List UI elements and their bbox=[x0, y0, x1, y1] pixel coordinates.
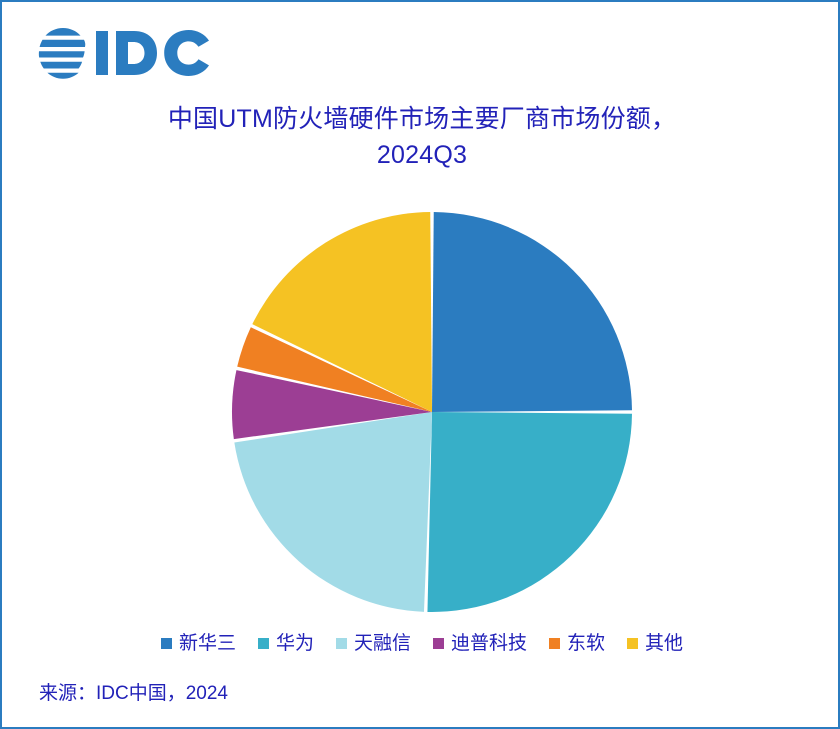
title-line-1: 中国UTM防火墙硬件市场主要厂商市场份额， bbox=[168, 105, 676, 133]
legend-label: 其他 bbox=[645, 634, 683, 653]
legend-label: 东软 bbox=[567, 634, 605, 653]
legend-swatch-icon bbox=[433, 638, 444, 649]
pie-chart-svg bbox=[230, 210, 634, 614]
legend-label: 天融信 bbox=[354, 634, 411, 653]
title-line-2: 2024Q3 bbox=[92, 138, 752, 174]
legend-label: 新华三 bbox=[179, 634, 236, 653]
legend-item[interactable]: 迪普科技 bbox=[433, 634, 527, 653]
legend-item[interactable]: 其他 bbox=[627, 634, 683, 653]
pie-slice-group bbox=[232, 212, 632, 612]
pie-slice[interactable] bbox=[427, 412, 632, 612]
legend-item[interactable]: 天融信 bbox=[336, 634, 411, 653]
pie-chart bbox=[230, 210, 634, 614]
idc-logo bbox=[36, 26, 216, 80]
chart-canvas: 中国UTM防火墙硬件市场主要厂商市场份额， 2024Q3 新华三华为天融信迪普科… bbox=[0, 0, 840, 729]
legend-label: 华为 bbox=[276, 634, 314, 653]
legend-swatch-icon bbox=[627, 638, 638, 649]
legend-swatch-icon bbox=[549, 638, 560, 649]
idc-globe-logo-icon bbox=[36, 26, 216, 80]
pie-slice[interactable] bbox=[234, 412, 432, 612]
legend-swatch-icon bbox=[258, 638, 269, 649]
pie-slice[interactable] bbox=[432, 212, 632, 412]
legend-item[interactable]: 东软 bbox=[549, 634, 605, 653]
source-note: 来源：IDC中国，2024 bbox=[39, 678, 228, 705]
legend-swatch-icon bbox=[336, 638, 347, 649]
page-title: 中国UTM防火墙硬件市场主要厂商市场份额， 2024Q3 bbox=[92, 102, 752, 173]
legend-item[interactable]: 新华三 bbox=[161, 634, 236, 653]
legend-swatch-icon bbox=[161, 638, 172, 649]
legend-item[interactable]: 华为 bbox=[258, 634, 314, 653]
legend-label: 迪普科技 bbox=[451, 634, 527, 653]
chart-legend: 新华三华为天融信迪普科技东软其他 bbox=[2, 634, 840, 653]
